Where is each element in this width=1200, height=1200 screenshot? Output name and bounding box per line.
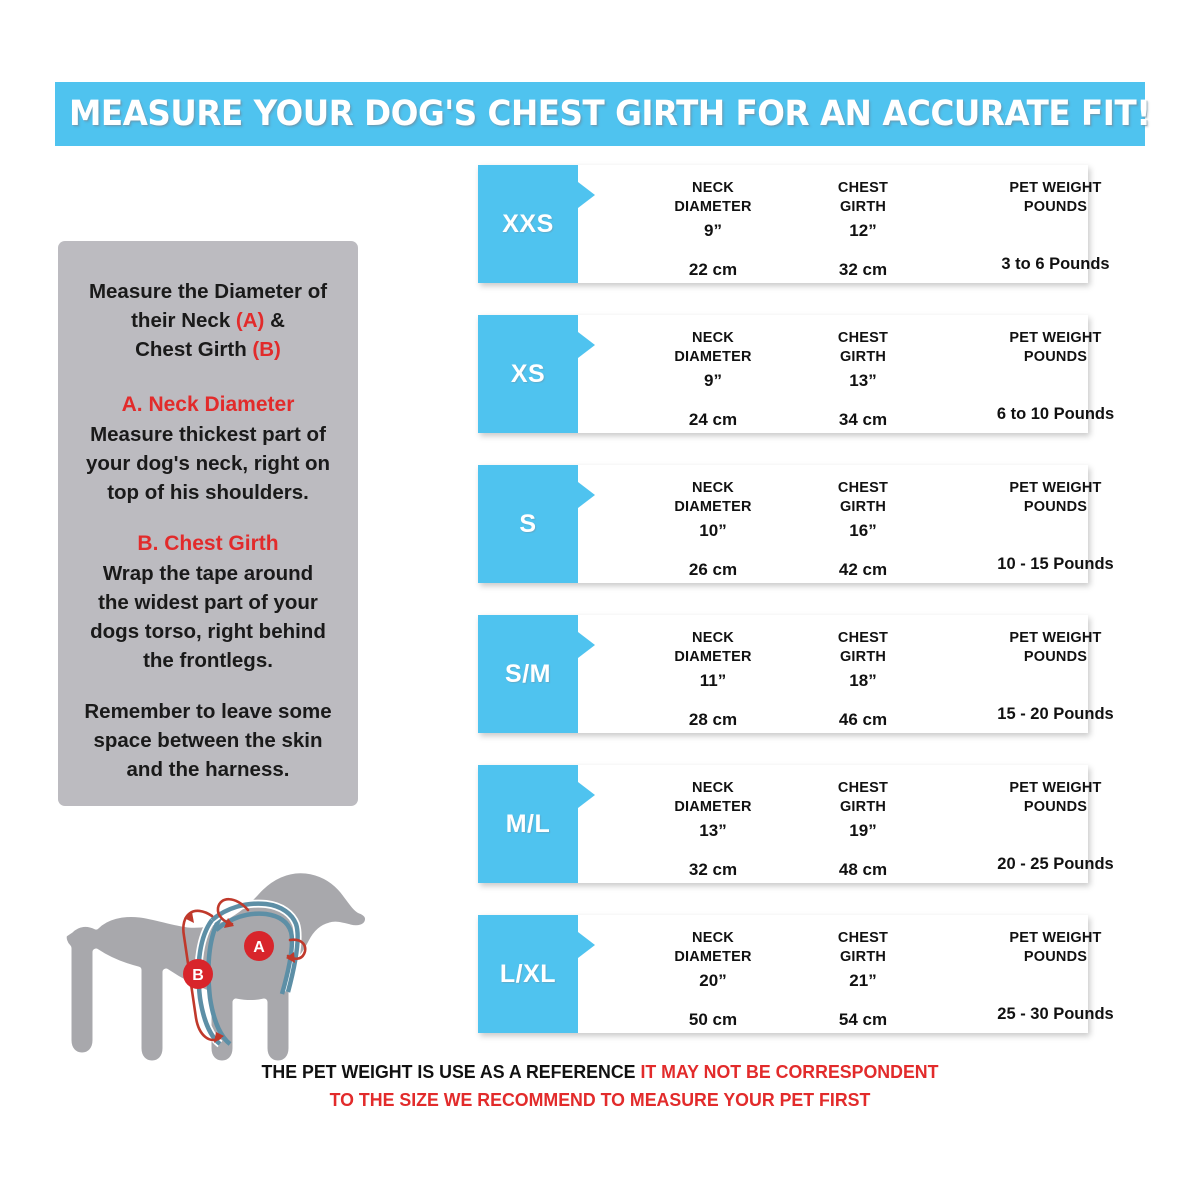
reminder-line-3: and the harness. bbox=[68, 755, 348, 784]
weight-column: PET WEIGHT POUNDS 6 to 10 Pounds bbox=[948, 315, 1163, 433]
size-badge: M/L bbox=[478, 765, 578, 883]
chest-header: CHEST GIRTH bbox=[793, 179, 933, 217]
weight-column: PET WEIGHT POUNDS 25 - 30 Pounds bbox=[948, 915, 1163, 1033]
weight-header-line1: PET WEIGHT bbox=[1009, 630, 1101, 646]
size-row-ml[interactable]: M/L NECK DIAMETER 13” 32 cm CHEST GIRTH bbox=[478, 765, 1088, 883]
size-label: L/XL bbox=[500, 960, 556, 989]
neck-column: NECK DIAMETER 11” 28 cm bbox=[638, 615, 788, 733]
section-b-line-4: the frontlegs. bbox=[68, 646, 348, 675]
weight-value: 25 - 30 Pounds bbox=[948, 1005, 1163, 1024]
intro-line-3: Chest Girth (B) bbox=[68, 335, 348, 364]
intro-line-3-text: Chest Girth bbox=[135, 338, 252, 361]
disclaimer: THE PET WEIGHT IS USE AS A REFERENCE IT … bbox=[0, 1058, 1200, 1114]
section-b-line-1: Wrap the tape around bbox=[68, 559, 348, 588]
neck-column: NECK DIAMETER 10” 26 cm bbox=[638, 465, 788, 583]
neck-header-line1: NECK bbox=[692, 930, 734, 946]
section-b-heading: B. Chest Girth bbox=[68, 529, 348, 559]
chest-inches: 21” bbox=[793, 971, 933, 991]
section-a-line-1: Measure thickest part of bbox=[68, 420, 348, 449]
neck-cm: 26 cm bbox=[638, 560, 788, 580]
weight-header-line2: POUNDS bbox=[1024, 799, 1087, 815]
chest-inches: 18” bbox=[793, 671, 933, 691]
chest-header-line2: GIRTH bbox=[840, 649, 886, 665]
weight-header-line2: POUNDS bbox=[1024, 649, 1087, 665]
intro-line-1: Measure the Diameter of bbox=[68, 277, 348, 306]
weight-header-line2: POUNDS bbox=[1024, 349, 1087, 365]
intro-line-2-text: their Neck bbox=[131, 309, 236, 332]
weight-header: PET WEIGHT POUNDS bbox=[948, 929, 1163, 967]
marker-b-badge: B bbox=[183, 959, 213, 989]
chest-inches: 12” bbox=[793, 221, 933, 241]
neck-header-line2: DIAMETER bbox=[674, 649, 751, 665]
chest-cm: 32 cm bbox=[793, 260, 933, 280]
size-label: S bbox=[519, 510, 536, 539]
marker-b-ref: (B) bbox=[252, 338, 280, 361]
chest-header-line2: GIRTH bbox=[840, 499, 886, 515]
neck-cm: 24 cm bbox=[638, 410, 788, 430]
size-row-xxs[interactable]: XXS NECK DIAMETER 9” 22 cm CHEST GIRTH bbox=[478, 165, 1088, 283]
neck-cm: 32 cm bbox=[638, 860, 788, 880]
neck-header-line2: DIAMETER bbox=[674, 349, 751, 365]
chest-inches: 19” bbox=[793, 821, 933, 841]
section-a-heading: A. Neck Diameter bbox=[68, 390, 348, 420]
disclaimer-line-2: TO THE SIZE WE RECOMMEND TO MEASURE YOUR… bbox=[24, 1086, 1176, 1114]
weight-header-line2: POUNDS bbox=[1024, 949, 1087, 965]
weight-value: 6 to 10 Pounds bbox=[948, 405, 1163, 424]
weight-header-line2: POUNDS bbox=[1024, 199, 1087, 215]
chest-header-line2: GIRTH bbox=[840, 349, 886, 365]
neck-header: NECK DIAMETER bbox=[638, 479, 788, 517]
neck-header-line1: NECK bbox=[692, 780, 734, 796]
measuring-instructions-panel: Measure the Diameter of their Neck (A) &… bbox=[58, 241, 358, 806]
size-label: XS bbox=[511, 360, 545, 389]
section-a-line-3: top of his shoulders. bbox=[68, 478, 348, 507]
neck-inches: 11” bbox=[638, 671, 788, 691]
weight-header-line1: PET WEIGHT bbox=[1009, 780, 1101, 796]
chest-column: CHEST GIRTH 13” 34 cm bbox=[793, 315, 933, 433]
neck-cm: 28 cm bbox=[638, 710, 788, 730]
reminder-line-2: space between the skin bbox=[68, 726, 348, 755]
weight-value: 20 - 25 Pounds bbox=[948, 855, 1163, 874]
spacer bbox=[68, 364, 348, 390]
neck-inches: 9” bbox=[638, 371, 788, 391]
chest-column: CHEST GIRTH 18” 46 cm bbox=[793, 615, 933, 733]
size-label: S/M bbox=[505, 660, 551, 689]
reminder-line-1: Remember to leave some bbox=[68, 697, 348, 726]
disclaimer-red-text-1: IT MAY NOT BE CORRESPONDENT bbox=[640, 1061, 938, 1082]
weight-header: PET WEIGHT POUNDS bbox=[948, 629, 1163, 667]
weight-header: PET WEIGHT POUNDS bbox=[948, 329, 1163, 367]
neck-column: NECK DIAMETER 20” 50 cm bbox=[638, 915, 788, 1033]
size-values: NECK DIAMETER 13” 32 cm CHEST GIRTH 19” … bbox=[578, 765, 1088, 883]
dog-measurement-diagram: A B bbox=[60, 852, 390, 1087]
neck-header: NECK DIAMETER bbox=[638, 329, 788, 367]
size-row-xs[interactable]: XS NECK DIAMETER 9” 24 cm CHEST GIRTH bbox=[478, 315, 1088, 433]
intro-line-2: their Neck (A) & bbox=[68, 306, 348, 335]
neck-column: NECK DIAMETER 9” 24 cm bbox=[638, 315, 788, 433]
size-badge: XXS bbox=[478, 165, 578, 283]
chest-header-line1: CHEST bbox=[838, 330, 888, 346]
weight-header: PET WEIGHT POUNDS bbox=[948, 179, 1163, 217]
chest-header-line1: CHEST bbox=[838, 180, 888, 196]
size-badge: S bbox=[478, 465, 578, 583]
chest-header-line1: CHEST bbox=[838, 930, 888, 946]
neck-header-line1: NECK bbox=[692, 180, 734, 196]
neck-header-line2: DIAMETER bbox=[674, 499, 751, 515]
size-label: XXS bbox=[502, 210, 554, 239]
section-b-line-3: dogs torso, right behind bbox=[68, 617, 348, 646]
neck-header-line2: DIAMETER bbox=[674, 199, 751, 215]
weight-header-line1: PET WEIGHT bbox=[1009, 480, 1101, 496]
chest-cm: 46 cm bbox=[793, 710, 933, 730]
weight-column: PET WEIGHT POUNDS 15 - 20 Pounds bbox=[948, 615, 1163, 733]
chest-header-line1: CHEST bbox=[838, 480, 888, 496]
weight-header: PET WEIGHT POUNDS bbox=[948, 479, 1163, 517]
size-chart: XXS NECK DIAMETER 9” 22 cm CHEST GIRTH bbox=[478, 165, 1088, 1033]
neck-header-line2: DIAMETER bbox=[674, 949, 751, 965]
chest-header: CHEST GIRTH bbox=[793, 629, 933, 667]
weight-column: PET WEIGHT POUNDS 3 to 6 Pounds bbox=[948, 165, 1163, 283]
svg-text:A: A bbox=[253, 939, 265, 956]
chest-header-line2: GIRTH bbox=[840, 949, 886, 965]
chest-header-line1: CHEST bbox=[838, 780, 888, 796]
chest-inches: 13” bbox=[793, 371, 933, 391]
neck-header-line1: NECK bbox=[692, 630, 734, 646]
neck-column: NECK DIAMETER 13” 32 cm bbox=[638, 765, 788, 883]
chest-column: CHEST GIRTH 16” 42 cm bbox=[793, 465, 933, 583]
neck-inches: 10” bbox=[638, 521, 788, 541]
weight-header-line1: PET WEIGHT bbox=[1009, 930, 1101, 946]
chest-cm: 42 cm bbox=[793, 560, 933, 580]
neck-header: NECK DIAMETER bbox=[638, 779, 788, 817]
size-values: NECK DIAMETER 10” 26 cm CHEST GIRTH 16” … bbox=[578, 465, 1088, 583]
weight-column: PET WEIGHT POUNDS 10 - 15 Pounds bbox=[948, 465, 1163, 583]
weight-value: 3 to 6 Pounds bbox=[948, 255, 1163, 274]
chest-cm: 34 cm bbox=[793, 410, 933, 430]
weight-header: PET WEIGHT POUNDS bbox=[948, 779, 1163, 817]
svg-text:B: B bbox=[192, 967, 204, 984]
size-guide-page: MEASURE YOUR DOG'S CHEST GIRTH FOR AN AC… bbox=[0, 0, 1200, 1200]
neck-inches: 9” bbox=[638, 221, 788, 241]
chest-cm: 54 cm bbox=[793, 1010, 933, 1030]
neck-header-line1: NECK bbox=[692, 330, 734, 346]
section-a-line-2: your dog's neck, right on bbox=[68, 449, 348, 478]
spacer bbox=[68, 507, 348, 529]
chest-header-line2: GIRTH bbox=[840, 199, 886, 215]
chest-header-line2: GIRTH bbox=[840, 799, 886, 815]
size-row-s[interactable]: S NECK DIAMETER 10” 26 cm CHEST GIRTH bbox=[478, 465, 1088, 583]
weight-value: 10 - 15 Pounds bbox=[948, 555, 1163, 574]
disclaimer-black-text: THE PET WEIGHT IS USE AS A REFERENCE bbox=[262, 1061, 636, 1082]
chest-header: CHEST GIRTH bbox=[793, 329, 933, 367]
neck-header: NECK DIAMETER bbox=[638, 629, 788, 667]
chest-header-line1: CHEST bbox=[838, 630, 888, 646]
marker-a-ref: (A) bbox=[236, 309, 264, 332]
weight-header-line1: PET WEIGHT bbox=[1009, 180, 1101, 196]
chest-header: CHEST GIRTH bbox=[793, 479, 933, 517]
marker-a-badge: A bbox=[244, 931, 274, 961]
chest-column: CHEST GIRTH 19” 48 cm bbox=[793, 765, 933, 883]
neck-column: NECK DIAMETER 9” 22 cm bbox=[638, 165, 788, 283]
neck-header-line1: NECK bbox=[692, 480, 734, 496]
neck-header-line2: DIAMETER bbox=[674, 799, 751, 815]
banner-title: MEASURE YOUR DOG'S CHEST GIRTH FOR AN AC… bbox=[69, 94, 1151, 134]
neck-inches: 13” bbox=[638, 821, 788, 841]
spacer bbox=[68, 675, 348, 697]
chest-header: CHEST GIRTH bbox=[793, 779, 933, 817]
header-banner: MEASURE YOUR DOG'S CHEST GIRTH FOR AN AC… bbox=[55, 82, 1145, 146]
size-badge: XS bbox=[478, 315, 578, 433]
chest-column: CHEST GIRTH 12” 32 cm bbox=[793, 165, 933, 283]
disclaimer-line-1: THE PET WEIGHT IS USE AS A REFERENCE IT … bbox=[24, 1058, 1176, 1086]
neck-cm: 22 cm bbox=[638, 260, 788, 280]
neck-header: NECK DIAMETER bbox=[638, 929, 788, 967]
size-values: NECK DIAMETER 9” 22 cm CHEST GIRTH 12” 3… bbox=[578, 165, 1088, 283]
size-values: NECK DIAMETER 9” 24 cm CHEST GIRTH 13” 3… bbox=[578, 315, 1088, 433]
chest-column: CHEST GIRTH 21” 54 cm bbox=[793, 915, 933, 1033]
chest-inches: 16” bbox=[793, 521, 933, 541]
size-row-sm[interactable]: S/M NECK DIAMETER 11” 28 cm CHEST GIRTH bbox=[478, 615, 1088, 733]
neck-inches: 20” bbox=[638, 971, 788, 991]
chest-header: CHEST GIRTH bbox=[793, 929, 933, 967]
size-label: M/L bbox=[506, 810, 551, 839]
weight-value: 15 - 20 Pounds bbox=[948, 705, 1163, 724]
size-badge: S/M bbox=[478, 615, 578, 733]
size-values: NECK DIAMETER 11” 28 cm CHEST GIRTH 18” … bbox=[578, 615, 1088, 733]
weight-column: PET WEIGHT POUNDS 20 - 25 Pounds bbox=[948, 765, 1163, 883]
section-b-line-2: the widest part of your bbox=[68, 588, 348, 617]
weight-header-line2: POUNDS bbox=[1024, 499, 1087, 515]
chest-cm: 48 cm bbox=[793, 860, 933, 880]
intro-line-2-tail: & bbox=[264, 309, 285, 332]
neck-header: NECK DIAMETER bbox=[638, 179, 788, 217]
neck-cm: 50 cm bbox=[638, 1010, 788, 1030]
weight-header-line1: PET WEIGHT bbox=[1009, 330, 1101, 346]
size-values: NECK DIAMETER 20” 50 cm CHEST GIRTH 21” … bbox=[578, 915, 1088, 1033]
size-row-lxl[interactable]: L/XL NECK DIAMETER 20” 50 cm CHEST GIRTH bbox=[478, 915, 1088, 1033]
size-badge: L/XL bbox=[478, 915, 578, 1033]
